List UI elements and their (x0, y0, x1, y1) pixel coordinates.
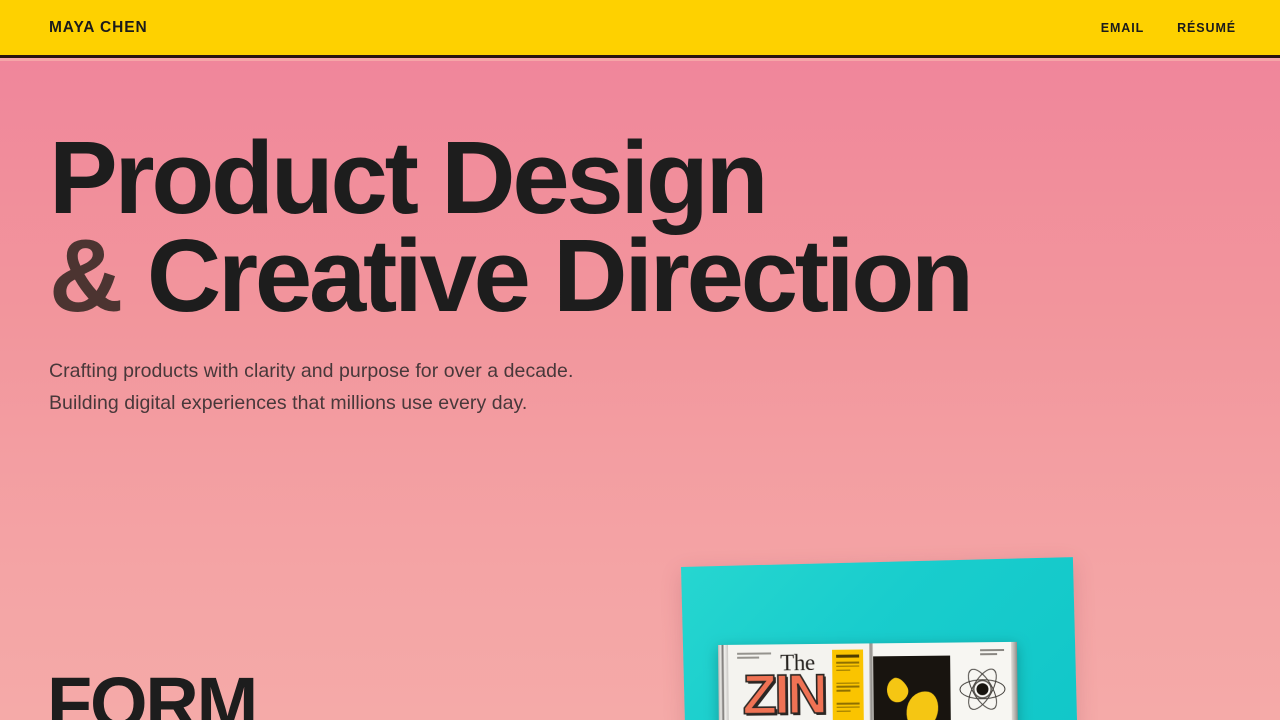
primary-navigation: EMAIL RÉSUMÉ (1101, 21, 1236, 35)
nav-link-resume[interactable]: RÉSUMÉ (1177, 21, 1236, 35)
site-header: MAYA CHEN EMAIL RÉSUMÉ (0, 0, 1280, 58)
hero-section: Product Design & Creative Direction Craf… (0, 61, 1280, 720)
subtitle-line-1: Crafting products with clarity and purpo… (49, 355, 573, 387)
headline-line-2: & Creative Direction (49, 227, 1049, 325)
portfolio-landing-page: MAYA CHEN EMAIL RÉSUMÉ Product Design & … (0, 0, 1280, 720)
magazine-left-page: The ZIN (728, 643, 870, 720)
atom-diagram-icon (959, 666, 1005, 712)
page-title: Product Design & Creative Direction (49, 129, 1049, 325)
yellow-droplet-small-icon (882, 675, 912, 706)
black-artwork-panel (873, 656, 951, 720)
yellow-sidebar-column (832, 649, 864, 720)
magazine-right-page (873, 642, 1012, 720)
headline-line-1: Product Design (49, 129, 1049, 227)
magazine-pages: The ZIN (718, 642, 1018, 720)
brand-wordmark[interactable]: MAYA CHEN (49, 19, 148, 37)
headline-line-2-text: Creative Direction (147, 218, 971, 333)
magazine-spread-image: The ZIN (718, 642, 1018, 720)
magazine-title-word: ZIN (742, 666, 825, 720)
section-heading-form: FORM (47, 667, 256, 720)
hero-subtitle: Crafting products with clarity and purpo… (49, 355, 573, 420)
masthead-microtext (737, 652, 771, 660)
nav-link-email[interactable]: EMAIL (1101, 21, 1144, 35)
subtitle-line-2: Building digital experiences that millio… (49, 387, 573, 419)
headline-ampersand: & (49, 218, 121, 333)
page-number-microtext (980, 649, 1004, 658)
